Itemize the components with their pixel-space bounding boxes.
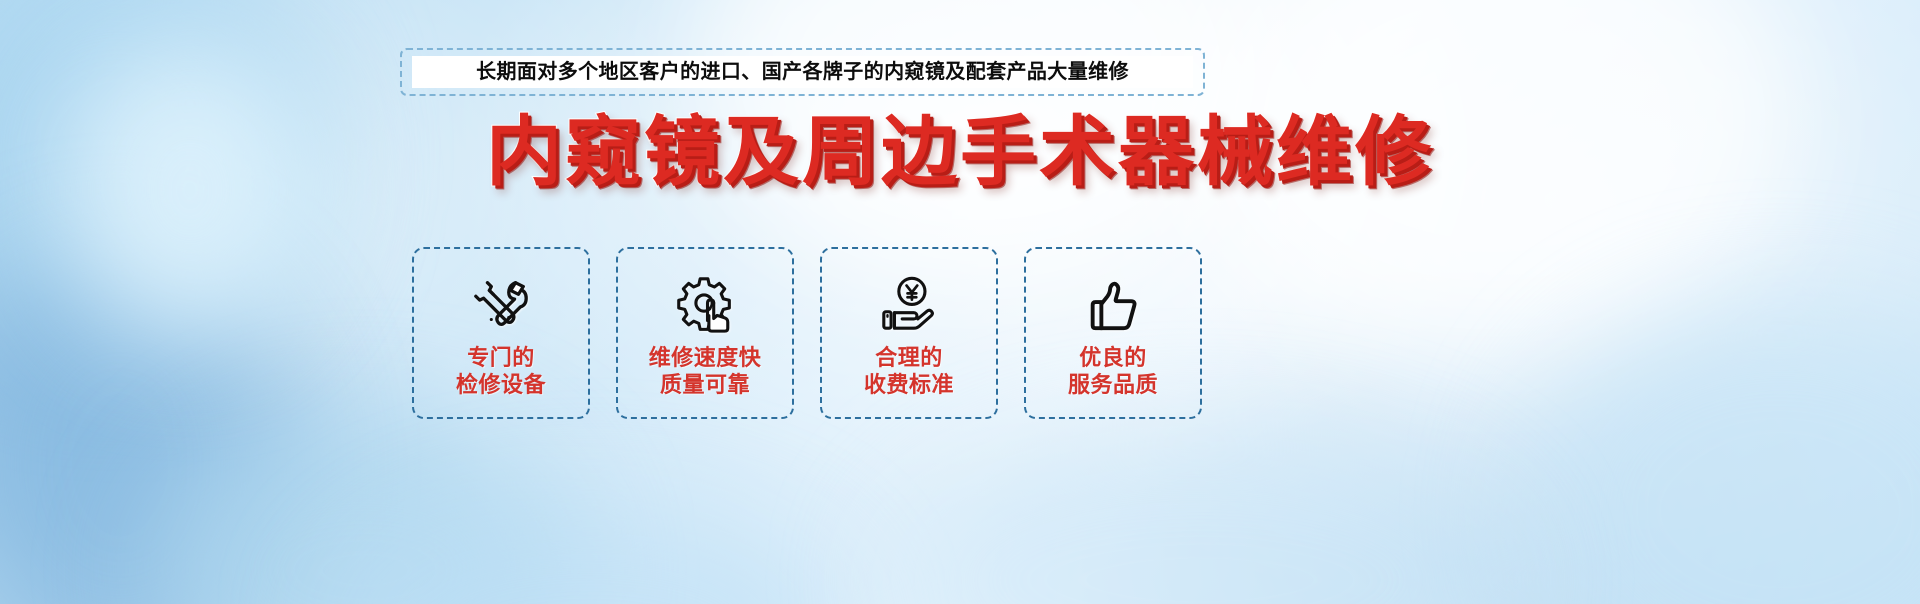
feature-label-line1: 合理的	[875, 345, 943, 370]
feature-label-line2: 质量可靠	[649, 372, 762, 399]
feature-card-equipment[interactable]: 专门的 检修设备	[412, 247, 590, 419]
feature-card-price[interactable]: 合理的 收费标准	[820, 247, 998, 419]
feature-label-line2: 服务品质	[1068, 372, 1158, 399]
hand-holding-yuan-coin-icon	[872, 267, 946, 341]
subtitle-inner-band: 长期面对多个地区客户的进口、国产各牌子的内窥镜及配套产品大量维修	[412, 56, 1193, 88]
feature-list: 专门的 检修设备 维修速度快 质量可靠	[412, 247, 1202, 419]
gear-click-icon	[668, 267, 742, 341]
feature-card-service[interactable]: 优良的 服务品质	[1024, 247, 1202, 419]
feature-label-line1: 优良的	[1079, 345, 1147, 370]
subtitle-text: 长期面对多个地区客户的进口、国产各牌子的内窥镜及配套产品大量维修	[476, 62, 1129, 82]
feature-label: 合理的 收费标准	[864, 345, 954, 399]
thumbs-up-icon	[1076, 267, 1150, 341]
feature-label-line1: 专门的	[467, 345, 535, 370]
feature-label-line1: 维修速度快	[649, 345, 762, 370]
feature-label-line2: 检修设备	[456, 372, 546, 399]
feature-label: 专门的 检修设备	[456, 345, 546, 399]
screwdriver-wrench-icon	[464, 267, 538, 341]
page-title: 内窥镜及周边手术器械维修	[0, 112, 1920, 192]
main-title-text: 内窥镜及周边手术器械维修	[486, 112, 1434, 192]
feature-label: 维修速度快 质量可靠	[649, 345, 762, 399]
feature-label-line2: 收费标准	[864, 372, 954, 399]
feature-label: 优良的 服务品质	[1068, 345, 1158, 399]
feature-card-speed[interactable]: 维修速度快 质量可靠	[616, 247, 794, 419]
promo-banner: 长期面对多个地区客户的进口、国产各牌子的内窥镜及配套产品大量维修 内窥镜及周边手…	[0, 0, 1920, 604]
subtitle-box: 长期面对多个地区客户的进口、国产各牌子的内窥镜及配套产品大量维修	[400, 48, 1205, 96]
